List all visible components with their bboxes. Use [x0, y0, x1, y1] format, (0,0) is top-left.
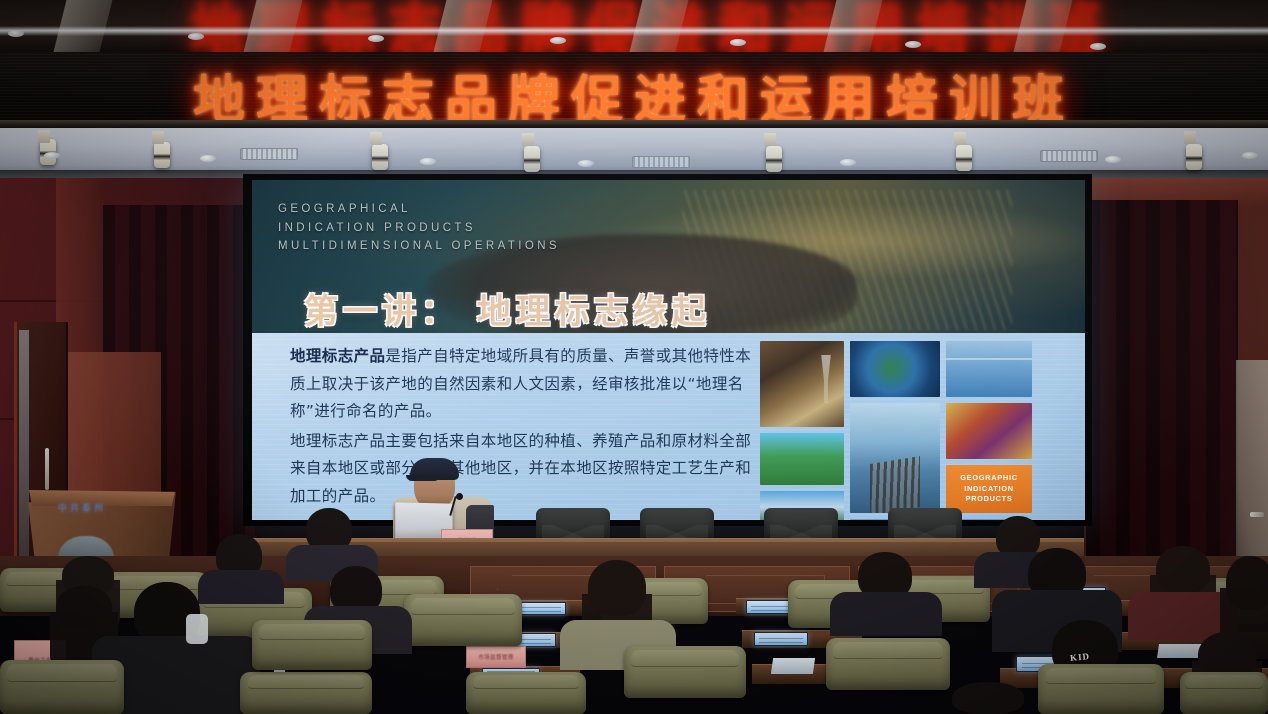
recessed-light-icon [578, 160, 594, 167]
conference-hall-photo: 地理标志品牌促进和运用培训班 地理标志品牌促进和运用培训班 [0, 0, 1268, 714]
slide-body-panel: 地理标志产品是指产自特定地域所具有的质量、声誉或其他特性本质上取决于该产地的自然… [252, 333, 1085, 520]
badge-text: GEOGRAPHIC INDICATION PRODUCTS [960, 473, 1018, 505]
spotlight-icon [372, 144, 388, 170]
wooden-pier-photo [850, 403, 940, 513]
audience-head [588, 560, 646, 616]
audience-head [56, 586, 112, 630]
spotlight-icon [1186, 144, 1202, 170]
ceiling-light-icon [730, 39, 746, 46]
fruits-vegetables-photo [946, 403, 1032, 459]
track-bracket [152, 131, 164, 144]
recessed-light-icon [200, 155, 216, 162]
side-door-right[interactable] [1236, 360, 1268, 578]
green-leaves-photo [760, 433, 844, 485]
door-glass-panel [19, 330, 29, 570]
ceiling-light-icon [905, 41, 921, 48]
audience-head [952, 682, 1024, 714]
geographic-indication-badge: GEOGRAPHIC INDICATION PRODUCTS [946, 465, 1032, 513]
presentation-slide: GEOGRAPHICAL INDICATION PRODUCTS MULTIDI… [252, 180, 1085, 520]
audience-seat [624, 646, 746, 698]
desk-monitor[interactable] [754, 632, 808, 646]
desk-name-card: 市场监督管理 [466, 646, 526, 668]
audience-seat [404, 594, 522, 646]
ceiling-light-icon [8, 30, 24, 37]
slide-english-heading: GEOGRAPHICAL INDICATION PRODUCTS MULTIDI… [278, 200, 560, 256]
spotlight-icon [956, 145, 972, 171]
heading-line-3: MULTIDIMENSIONAL OPERATIONS [278, 237, 560, 256]
door-handle-icon[interactable] [1250, 512, 1264, 517]
badge-line-1: GEOGRAPHIC [960, 473, 1018, 482]
slide-paragraph-1: 地理标志产品是指产自特定地域所具有的质量、声誉或其他特性本质上取决于该产地的自然… [290, 343, 760, 426]
desk-name-card-text: 市场监督管理 [478, 653, 513, 661]
track-bracket [522, 133, 534, 146]
right-curtain [1086, 200, 1238, 578]
audience-seat [826, 638, 950, 690]
recessed-light-icon [840, 159, 856, 166]
audience-seat [252, 620, 372, 670]
hair-clip-text: KID [1070, 651, 1091, 663]
ceiling-vent [632, 156, 690, 168]
recessed-light-icon [1242, 152, 1258, 159]
spotlight-icon [766, 146, 782, 172]
ceiling-vent [240, 148, 298, 160]
microphone-icon [456, 493, 463, 500]
slide-term-lead: 地理标志产品 [290, 347, 385, 365]
heading-line-1: GEOGRAPHICAL [278, 200, 560, 219]
track-bracket [370, 132, 382, 145]
audience-head [1156, 546, 1210, 594]
audience-shoulders [198, 570, 284, 604]
podium-emblem-text: 中共泰州 [58, 501, 144, 515]
spotlight-icon [154, 142, 170, 168]
document-stack [771, 658, 815, 674]
slide-paragraph-2: 地理标志产品主要包括来自本地区的种植、养殖产品和原材料全部来自本地区或部分来自其… [290, 428, 760, 511]
recessed-light-icon [1105, 156, 1121, 163]
ceiling-light-icon [550, 37, 566, 44]
track-bracket [38, 130, 50, 143]
audience-seat [0, 660, 124, 714]
audience-shoulders [830, 592, 942, 636]
wine-barrel-photo [760, 341, 844, 427]
slide-title: 第一讲： 地理标志缘起 [304, 284, 711, 333]
door-handle-icon[interactable] [45, 448, 49, 490]
audience-seat [1038, 664, 1164, 714]
presenter-cap [410, 458, 459, 480]
led-banner-reflection: 地理标志品牌促进和运用培训班 [0, 0, 1268, 52]
document-stack [1157, 644, 1203, 658]
earth-globe-photo [850, 341, 940, 397]
heading-line-2: INDICATION PRODUCTS [278, 219, 560, 238]
spotlight-icon [524, 146, 540, 172]
badge-line-3: PRODUCTS [965, 494, 1012, 503]
slide-hero-image: GEOGRAPHICAL INDICATION PRODUCTS MULTIDI… [252, 180, 1085, 333]
slide-photo-grid: GEOGRAPHIC INDICATION PRODUCTS [758, 341, 1034, 513]
audience-seat [240, 672, 372, 714]
ceiling-vent [1040, 150, 1098, 162]
recessed-light-icon [420, 158, 436, 165]
ceiling-light-icon [1090, 43, 1106, 50]
face-mask [186, 614, 208, 644]
slide-body-text: 地理标志产品是指产自特定地域所具有的质量、声誉或其他特性本质上取决于该产地的自然… [290, 343, 760, 512]
audience-head [1226, 556, 1268, 610]
fishing-boats-photo [946, 341, 1032, 397]
track-bracket [954, 132, 966, 145]
track-bracket [1184, 131, 1196, 144]
ceiling-light-icon [188, 33, 204, 40]
led-banner: 地理标志品牌促进和运用培训班 地理标志品牌促进和运用培训班 [0, 0, 1268, 130]
badge-line-2: INDICATION [964, 484, 1014, 493]
track-bracket [764, 133, 776, 146]
audience-seat [466, 672, 586, 714]
audience-seat [1180, 672, 1268, 714]
ceiling-light-icon [368, 35, 384, 42]
recessed-light-icon [44, 152, 60, 159]
